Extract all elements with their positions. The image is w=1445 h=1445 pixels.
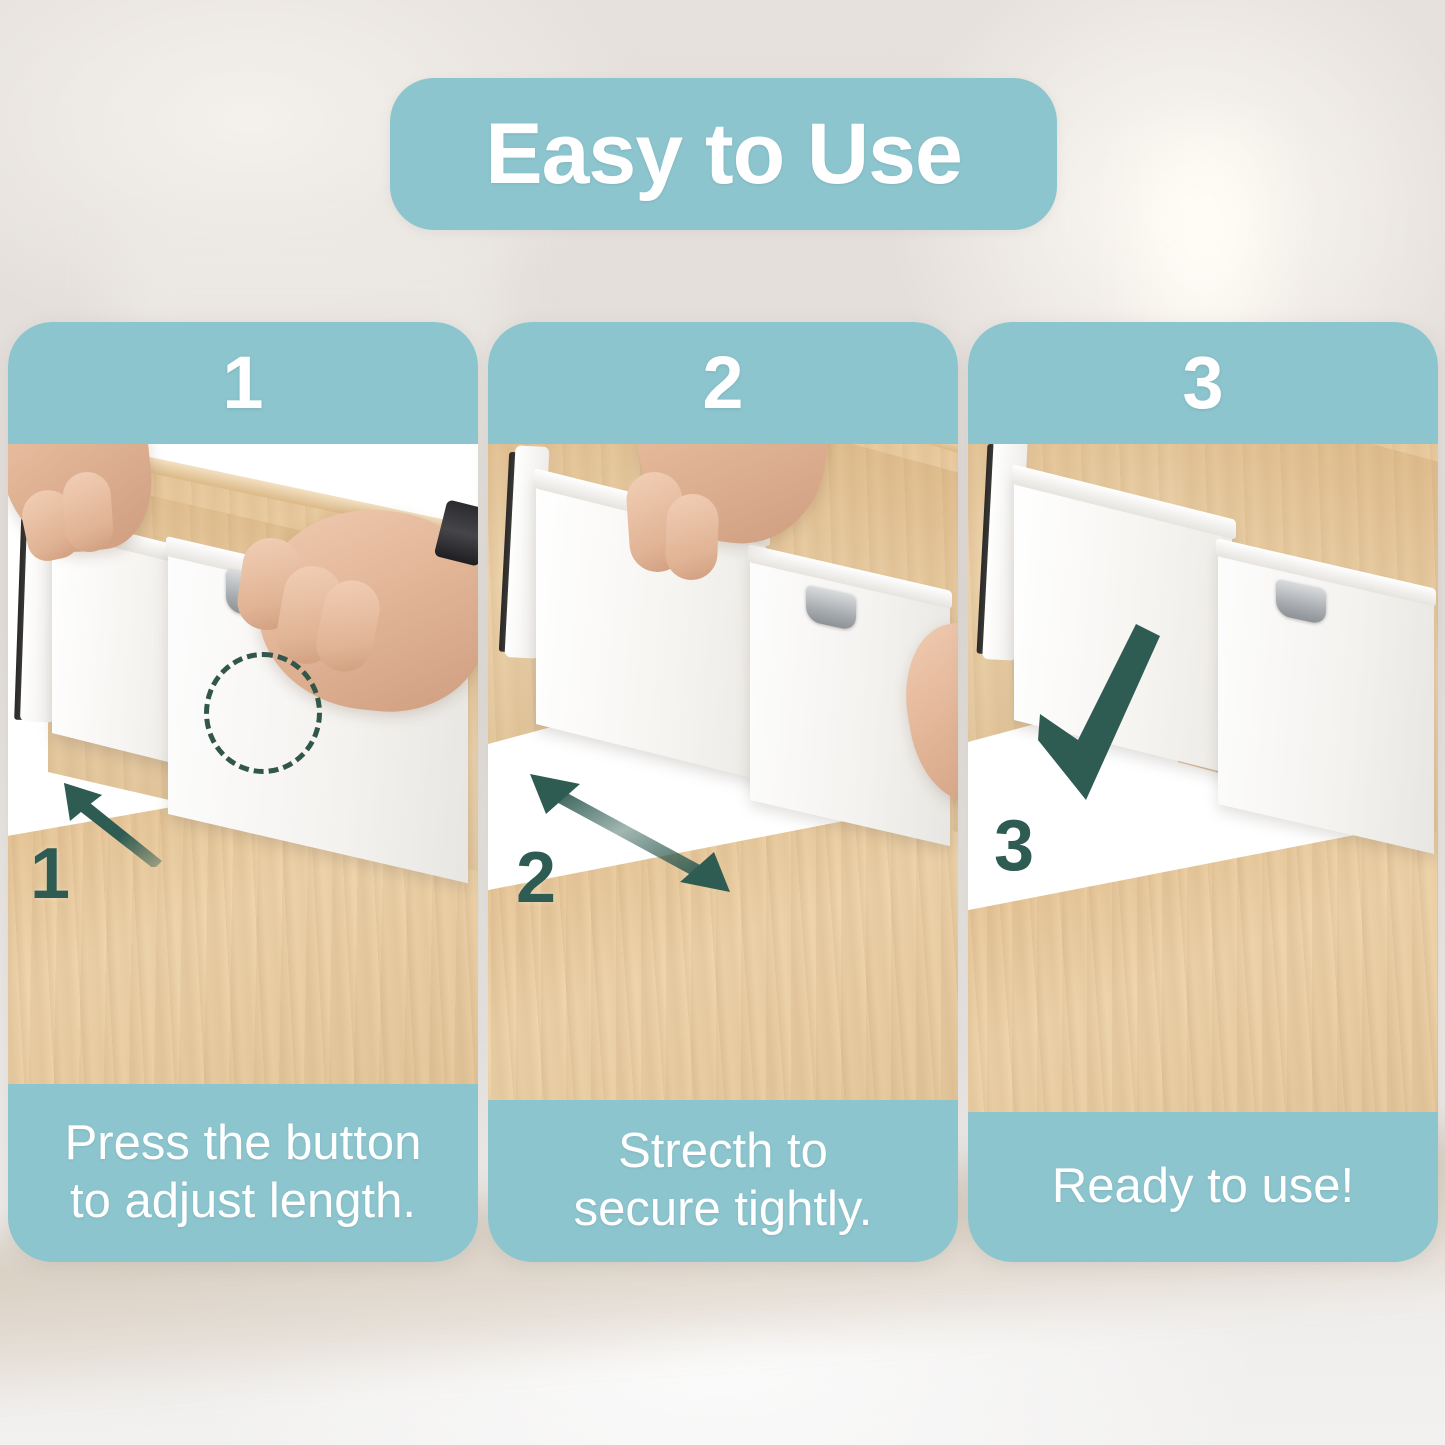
step-2-caption: Strecth to secure tightly. [488,1100,958,1262]
step-1-header: 1 [8,322,478,444]
step-1-caption-line-2: to adjust length. [65,1173,422,1231]
step-1-caption-line-1: Press the button [65,1115,422,1173]
easy-to-use-infographic: Easy to Use [0,0,1445,1445]
step-2-caption-line-2: secure tightly. [574,1181,873,1239]
step-1-caption: Press the button to adjust length. [8,1084,478,1262]
step-card-1: 1 1 Press the button to adjust length. [8,322,478,1262]
step-1-number: 1 [222,346,263,420]
step-3-header: 3 [968,322,1438,444]
title-banner: Easy to Use [390,78,1057,230]
step-3-caption: Ready to use! [968,1112,1438,1262]
step-card-2: 2 2 Strecth to secure tightly. [488,322,958,1262]
step-2-caption-line-1: Strecth to [574,1123,873,1181]
page-title: Easy to Use [485,111,962,197]
step-2-header: 2 [488,322,958,444]
step-3-number: 3 [1182,346,1223,420]
step-3-caption-line-1: Ready to use! [1052,1158,1354,1216]
step-2-number: 2 [702,346,743,420]
step-card-3: 3 3 Ready to use! [968,322,1438,1262]
steps-container: 1 1 Press the button to adjust length. [0,322,1445,1262]
